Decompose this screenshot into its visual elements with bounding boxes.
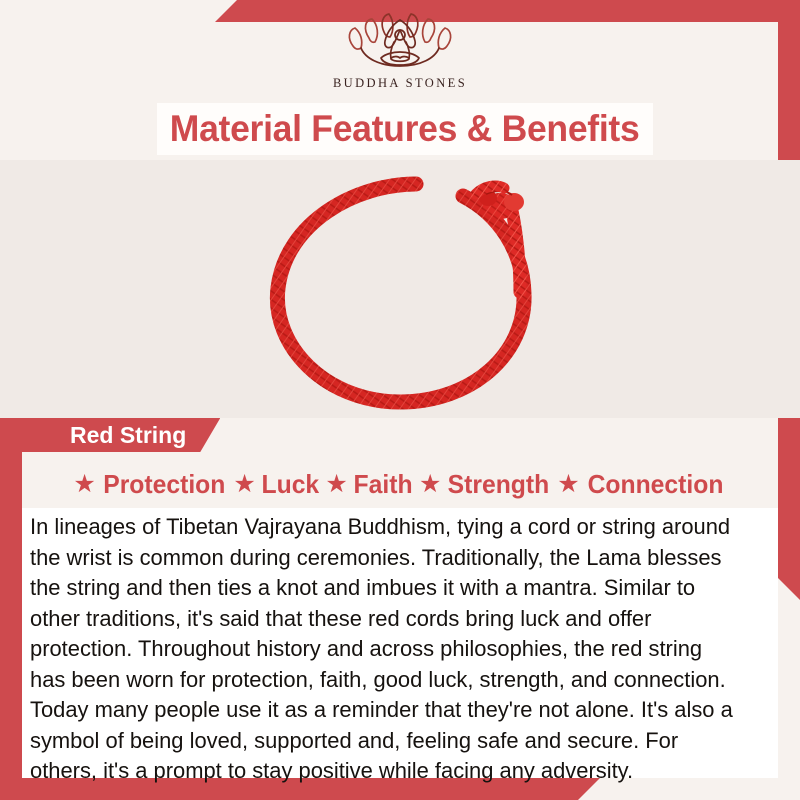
benefit-label: Faith xyxy=(353,469,412,500)
benefit-item: ★ Protection xyxy=(73,469,228,500)
material-name-banner: Red String xyxy=(22,418,220,452)
benefit-label: Protection xyxy=(103,469,225,500)
benefit-label: Strength xyxy=(448,469,550,500)
star-icon: ★ xyxy=(557,472,579,497)
product-image xyxy=(0,160,800,418)
description-panel: In lineages of Tibetan Vajrayana Buddhis… xyxy=(22,508,778,778)
red-braided-bracelet-illustration xyxy=(248,168,572,418)
description-text: In lineages of Tibetan Vajrayana Buddhis… xyxy=(30,512,742,787)
benefits-list: ★ Protection ★ Luck ★ Faith ★ Strength ★… xyxy=(0,462,800,506)
benefit-item: ★ Connection xyxy=(557,469,726,500)
product-infographic: BUDDHA STONES Material Features & Benefi… xyxy=(0,0,800,800)
benefit-item: ★ Luck xyxy=(233,469,320,500)
brand-logo: BUDDHA STONES xyxy=(0,8,800,100)
material-name: Red String xyxy=(70,422,186,449)
page-title: Material Features & Benefits xyxy=(170,108,640,150)
benefit-item: ★ Strength xyxy=(419,469,552,500)
star-icon: ★ xyxy=(419,472,441,497)
benefit-item: ★ Faith xyxy=(325,469,414,500)
brand-wordmark: BUDDHA STONES xyxy=(333,76,467,91)
star-icon: ★ xyxy=(325,472,347,497)
benefit-label: Connection xyxy=(587,469,723,500)
lotus-meditation-icon xyxy=(341,8,459,74)
star-icon: ★ xyxy=(233,472,255,497)
benefit-label: Luck xyxy=(261,469,319,500)
title-banner: Material Features & Benefits xyxy=(157,103,653,155)
star-icon: ★ xyxy=(73,472,95,497)
